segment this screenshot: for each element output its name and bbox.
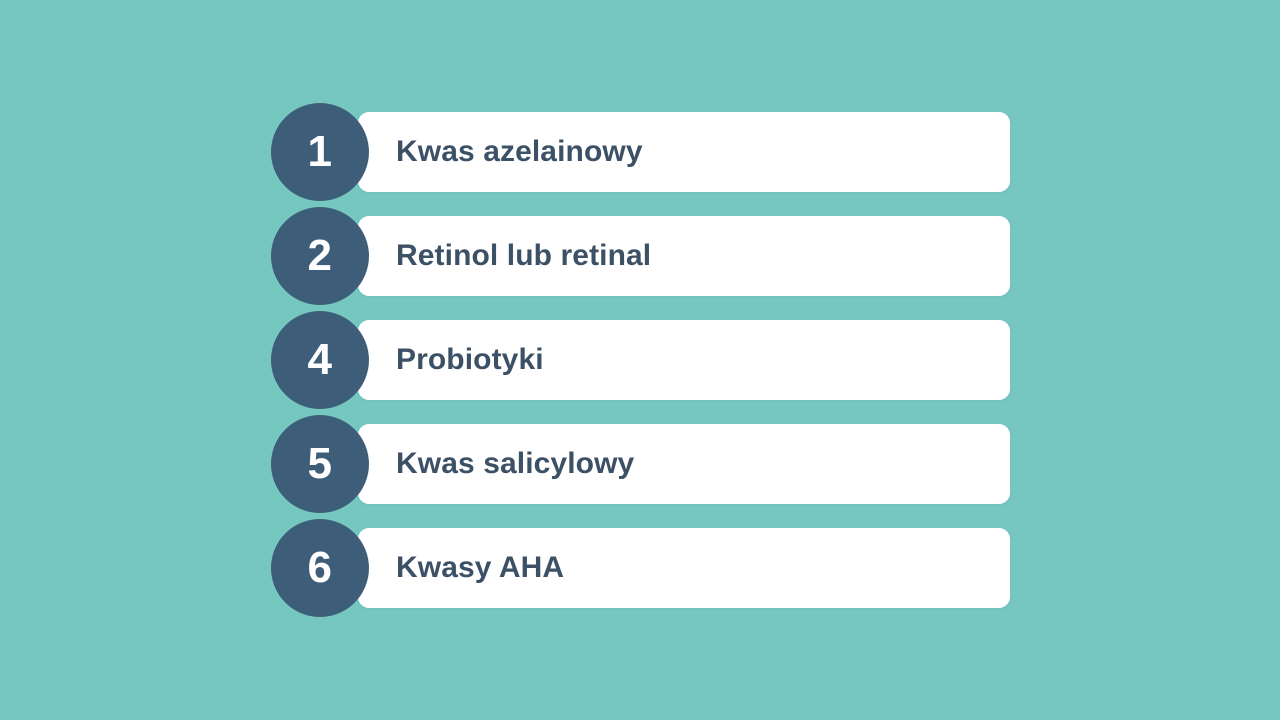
list-item-label: Probiotyki	[396, 320, 544, 400]
list-item-number-badge: 1	[271, 103, 369, 201]
list-item-label: Retinol lub retinal	[396, 216, 651, 296]
list-item[interactable]: 6 Kwasy AHA	[271, 519, 1010, 617]
list-item-number: 2	[308, 234, 333, 278]
list-item-label: Kwas salicylowy	[396, 424, 634, 504]
list-item-number: 4	[308, 338, 333, 382]
list-item[interactable]: 1 Kwas azelainowy	[271, 103, 1010, 201]
slide-canvas: 1 Kwas azelainowy 2 Retinol lub retinal …	[0, 0, 1280, 720]
list-item-number-badge: 4	[271, 311, 369, 409]
list-item-number: 6	[308, 546, 333, 590]
list-item[interactable]: 5 Kwas salicylowy	[271, 415, 1010, 513]
list-item-number: 5	[308, 442, 333, 486]
list-item-number: 1	[308, 130, 333, 174]
list-item-number-badge: 6	[271, 519, 369, 617]
list-item[interactable]: 2 Retinol lub retinal	[271, 207, 1010, 305]
list-item[interactable]: 4 Probiotyki	[271, 311, 1010, 409]
numbered-list: 1 Kwas azelainowy 2 Retinol lub retinal …	[271, 103, 1010, 617]
list-item-number-badge: 2	[271, 207, 369, 305]
list-item-label: Kwas azelainowy	[396, 112, 643, 192]
list-item-number-badge: 5	[271, 415, 369, 513]
list-item-label: Kwasy AHA	[396, 528, 564, 608]
